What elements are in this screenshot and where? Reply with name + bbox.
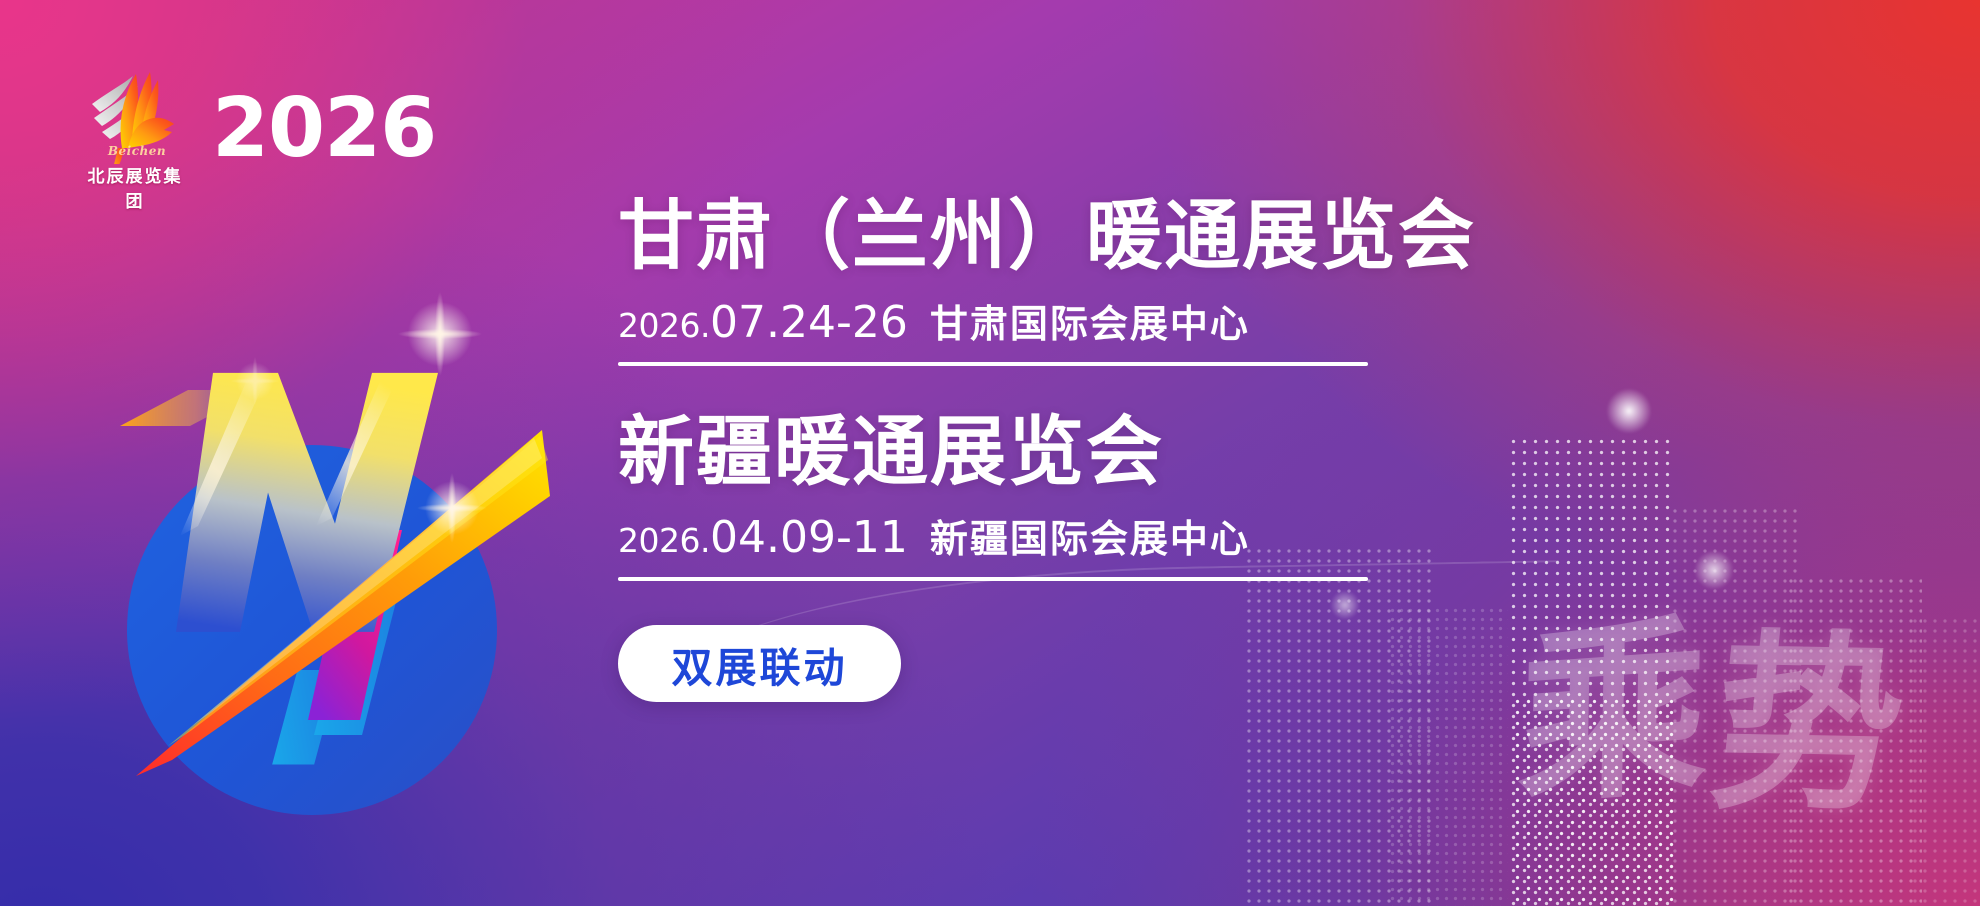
event-subline: 2026.07.24-26 甘肃国际会展中心	[618, 293, 1618, 348]
event-block-1: 甘肃（兰州）暖通展览会 2026.07.24-26 甘肃国际会展中心	[618, 196, 1618, 366]
calligraphy-char-2: 势	[1705, 632, 1918, 817]
exhibition-banner: 乘势	[0, 0, 1980, 906]
skyline-glow-icon	[1694, 550, 1734, 590]
event-block-2: 新疆暖通展览会 2026.04.09-11 新疆国际会展中心	[618, 412, 1618, 582]
dual-exhibition-cta-button[interactable]: 双展联动	[618, 625, 901, 702]
event-content: 甘肃（兰州）暖通展览会 2026.07.24-26 甘肃国际会展中心 新疆暖通展…	[618, 196, 1618, 702]
event-title: 新疆暖通展览会	[618, 412, 1618, 493]
event-date-year: 2026.	[618, 521, 710, 560]
brand-name-en: Beichen	[84, 144, 190, 158]
dual-exhibition-cta-label: 双展联动	[672, 634, 848, 694]
event-date: 2026.07.24-26	[618, 297, 908, 348]
event-date-year: 2026.	[618, 306, 710, 345]
skyline-building	[1512, 696, 1678, 906]
block-spacer	[618, 366, 1618, 412]
skyline-building	[1670, 506, 1798, 906]
event-subline: 2026.04.09-11 新疆国际会展中心	[618, 508, 1618, 563]
brand-lockup: Beichen 北辰展览集团 2026	[78, 52, 436, 192]
phoenix-bird-icon: Beichen 北辰展览集团	[78, 52, 190, 192]
event-title: 甘肃（兰州）暖通展览会	[618, 196, 1618, 277]
event-date: 2026.04.09-11	[618, 512, 908, 563]
year-label: 2026	[212, 88, 436, 170]
divider-line	[618, 577, 1368, 581]
brand-name-cn: 北辰展览集团	[82, 162, 188, 212]
abstract-n-monogram-icon	[80, 250, 560, 900]
skyline-building	[1910, 616, 1980, 906]
event-venue: 新疆国际会展中心	[930, 508, 1250, 563]
event-venue: 甘肃国际会展中心	[930, 293, 1250, 348]
event-date-range: 07.24-26	[710, 297, 908, 348]
skyline-building	[1786, 576, 1922, 906]
event-date-range: 04.09-11	[710, 512, 908, 563]
